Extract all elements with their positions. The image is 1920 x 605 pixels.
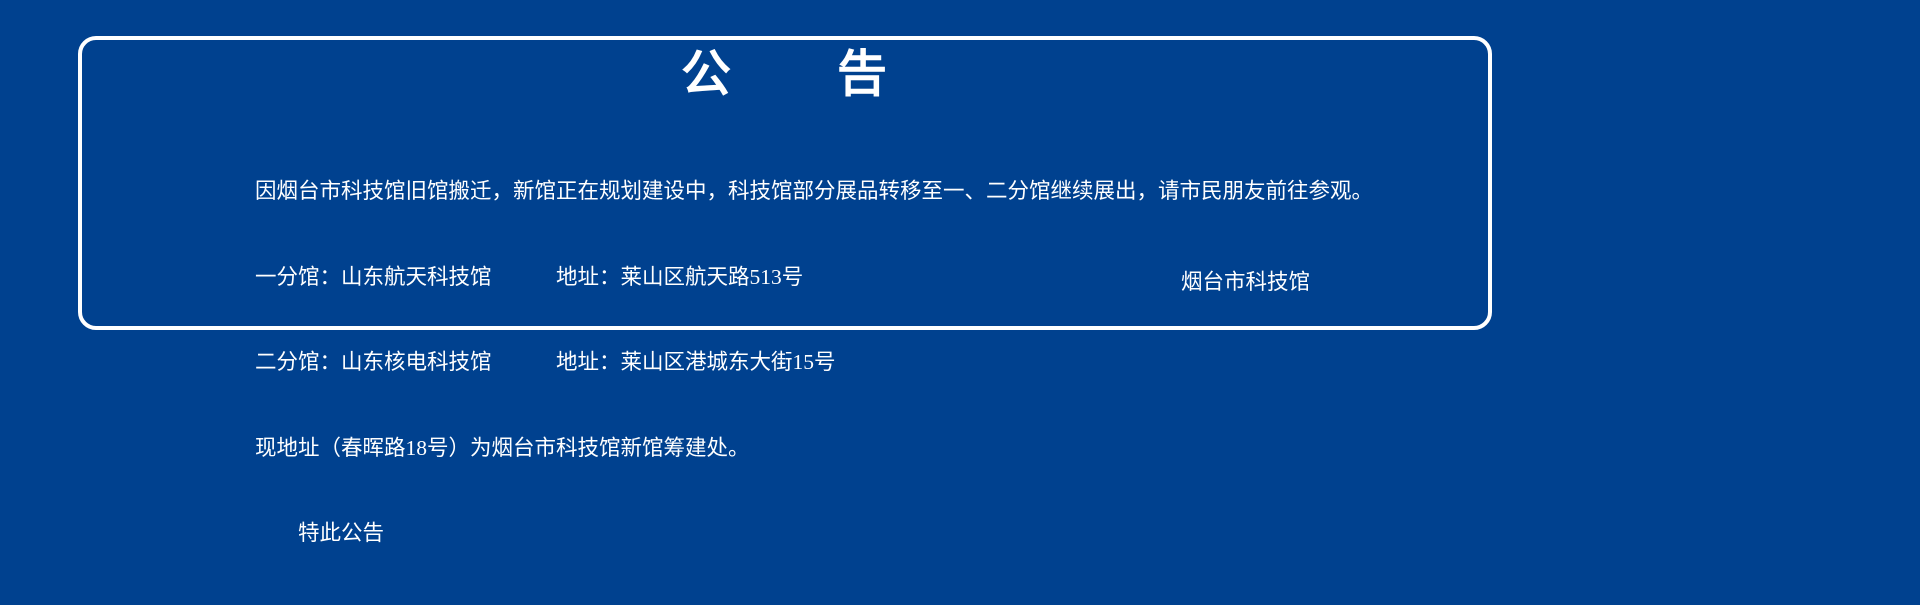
page-title: 公 告 xyxy=(78,46,1492,102)
signature-organization: 烟台市科技馆 xyxy=(0,268,1310,296)
body-line-branch-two: 二分馆：山东核电科技馆 地址：莱山区港城东大街15号 xyxy=(255,348,1315,377)
announcement-poster: 公 告 因烟台市科技馆旧馆搬迁，新馆正在规划建设中，科技馆部分展品转移至一、二分… xyxy=(0,0,1920,446)
closing-line: 特此公告 xyxy=(255,519,1315,548)
body-line-1: 因烟台市科技馆旧馆搬迁，新馆正在规划建设中，科技馆部分展品转移至一、二分馆继续展… xyxy=(255,177,1315,206)
body-line-current-address: 现地址（春晖路18号）为烟台市科技馆新馆筹建处。 xyxy=(255,434,1315,463)
announcement-body: 因烟台市科技馆旧馆搬迁，新馆正在规划建设中，科技馆部分展品转移至一、二分馆继续展… xyxy=(255,120,1315,605)
